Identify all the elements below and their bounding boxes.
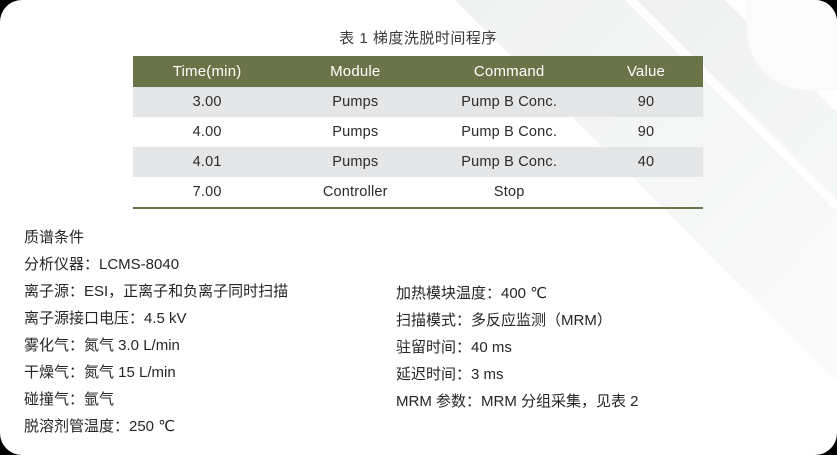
cell-time: 3.00 xyxy=(133,87,281,117)
corner-patch xyxy=(747,0,837,90)
cell-command: Pump B Conc. xyxy=(429,147,589,177)
column-header-module: Module xyxy=(281,56,429,87)
cell-command: Pump B Conc. xyxy=(429,117,589,147)
condition-line-mrm-parameters: MRM 参数：MRM 分组采集，见表 2 xyxy=(396,388,796,415)
condition-line-dl-temperature: 脱溶剂管温度：250 ℃ xyxy=(24,413,404,440)
condition-line-dwell-time: 驻留时间：40 ms xyxy=(396,334,796,361)
cell-module: Pumps xyxy=(281,87,429,117)
ms-conditions-right-column: 加热模块温度：400 ℃ 扫描模式：多反应监测（MRM） 驻留时间：40 ms … xyxy=(396,280,796,415)
condition-line-drying-gas: 干燥气：氮气 15 L/min xyxy=(24,359,404,386)
condition-line-collision-gas: 碰撞气：氩气 xyxy=(24,386,404,413)
cell-command: Pump B Conc. xyxy=(429,87,589,117)
slide-canvas: 表 1 梯度洗脱时间程序 Time(min) Module Command Va… xyxy=(0,0,837,455)
condition-line-nebulizing-gas: 雾化气：氮气 3.0 L/min xyxy=(24,332,404,359)
column-header-value: Value xyxy=(589,56,703,87)
table-row: 3.00 Pumps Pump B Conc. 90 xyxy=(133,87,703,117)
condition-line-instrument: 分析仪器：LCMS-8040 xyxy=(24,251,404,278)
condition-line-scan-mode: 扫描模式：多反应监测（MRM） xyxy=(396,307,796,334)
table-header: Time(min) Module Command Value xyxy=(133,56,703,87)
cell-value: 90 xyxy=(589,87,703,117)
cell-module: Controller xyxy=(281,177,429,208)
cell-value xyxy=(589,177,703,208)
cell-time: 4.00 xyxy=(133,117,281,147)
table-row: 4.00 Pumps Pump B Conc. 90 xyxy=(133,117,703,147)
cell-time: 4.01 xyxy=(133,147,281,177)
cell-value: 90 xyxy=(589,117,703,147)
gradient-elution-table: Time(min) Module Command Value 3.00 Pump… xyxy=(133,56,703,209)
condition-line-heat-block-temperature: 加热模块温度：400 ℃ xyxy=(396,280,796,307)
table-body: 3.00 Pumps Pump B Conc. 90 4.00 Pumps Pu… xyxy=(133,87,703,208)
cell-module: Pumps xyxy=(281,117,429,147)
column-header-time: Time(min) xyxy=(133,56,281,87)
condition-line-ion-source: 离子源：ESI，正离子和负离子同时扫描 xyxy=(24,278,404,305)
condition-line-delay-time: 延迟时间：3 ms xyxy=(396,361,796,388)
cell-value: 40 xyxy=(589,147,703,177)
column-header-command: Command xyxy=(429,56,589,87)
ms-conditions-left-column: 质谱条件 分析仪器：LCMS-8040 离子源：ESI，正离子和负离子同时扫描 … xyxy=(24,224,404,440)
table-caption: 表 1 梯度洗脱时间程序 xyxy=(133,30,703,48)
condition-line-interface-voltage: 离子源接口电压：4.5 kV xyxy=(24,305,404,332)
table-header-row: Time(min) Module Command Value xyxy=(133,56,703,87)
ms-conditions-heading: 质谱条件 xyxy=(24,224,404,251)
cell-module: Pumps xyxy=(281,147,429,177)
table-row: 7.00 Controller Stop xyxy=(133,177,703,208)
gradient-elution-table-block: 表 1 梯度洗脱时间程序 Time(min) Module Command Va… xyxy=(133,30,703,209)
cell-command: Stop xyxy=(429,177,589,208)
cell-time: 7.00 xyxy=(133,177,281,208)
table-row: 4.01 Pumps Pump B Conc. 40 xyxy=(133,147,703,177)
